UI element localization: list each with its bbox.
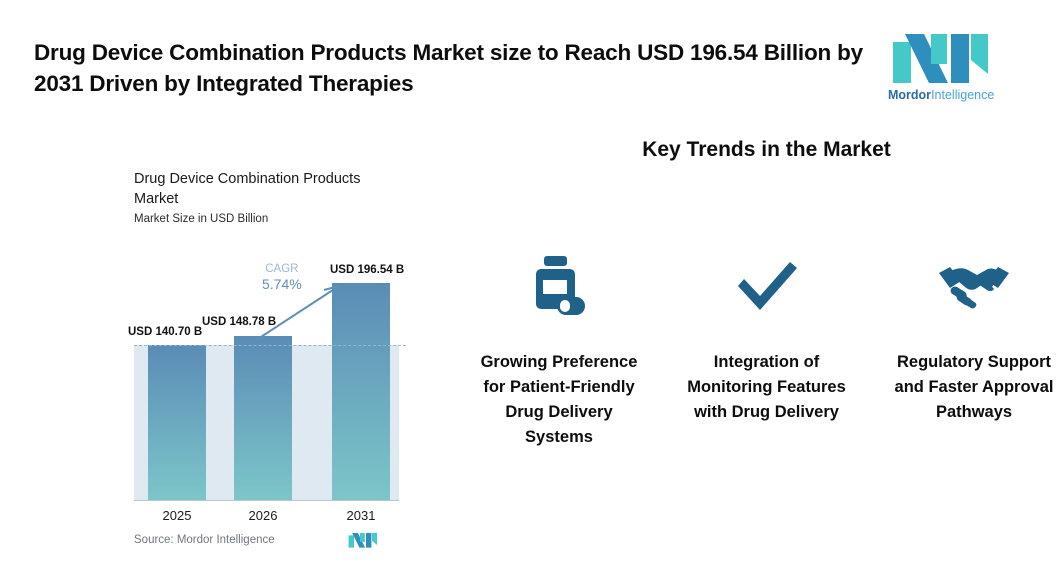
key-trends-heading: Key Trends in the Market [470,138,1063,162]
page-title: Drug Device Combination Products Market … [34,38,864,100]
x-axis-line [134,500,399,501]
bar-label-2025: USD 140.70 B [128,326,202,338]
cagr-value: 5.74% [262,276,302,294]
bar-2026 [234,336,292,500]
bar-label-2026: USD 148.78 B [202,316,276,328]
logo-word-mordor: Mordor [888,88,931,102]
mordor-logo-mark [891,30,991,85]
page-header: Drug Device Combination Products Market … [0,0,1063,122]
trend-label: Integration of Monitoring Features with … [678,350,856,425]
mordor-logo-mark-small [348,530,378,550]
bar-label-2031: USD 196.54 B [330,264,404,276]
x-label-2026: 2026 [234,508,292,523]
brand-logo: MordorIntelligence [888,30,993,102]
trend-label: Regulatory Support and Faster Approval P… [885,350,1063,425]
reference-dashed-line [134,345,406,346]
x-label-2031: 2031 [332,508,390,523]
pill-bottle-icon [531,250,587,324]
cagr-annotation: CAGR 5.74% [262,262,302,294]
trend-item: Growing Preference for Patient-Friendly … [470,250,648,450]
chart-title: Drug Device Combination Products Market [134,170,394,209]
mordor-logo-wordmark: MordorIntelligence [888,88,993,102]
bar-2031 [332,283,390,500]
logo-word-intelligence: Intelligence [931,88,994,102]
chart-source-row: Source: Mordor Intelligence [134,530,399,556]
trend-label: Growing Preference for Patient-Friendly … [470,350,648,450]
x-label-2025: 2025 [148,508,206,523]
chart-panel: Drug Device Combination Products Market … [0,160,470,570]
chart-source-text: Source: Mordor Intelligence [134,534,275,546]
bar-chart-plot: USD 140.70 B USD 148.78 B USD 196.54 B C… [134,260,399,560]
trend-item: Integration of Monitoring Features with … [678,250,856,425]
cagr-label: CAGR [262,262,302,276]
bar-2025 [148,345,206,500]
chart-subtitle: Market Size in USD Billion [134,213,268,225]
handshake-icon [937,250,1011,324]
checkmark-icon [734,250,800,324]
trend-item: Regulatory Support and Faster Approval P… [885,250,1063,425]
key-trends-list: Growing Preference for Patient-Friendly … [470,250,1063,450]
key-trends-panel: Key Trends in the Market Growing Prefere… [470,130,1063,570]
